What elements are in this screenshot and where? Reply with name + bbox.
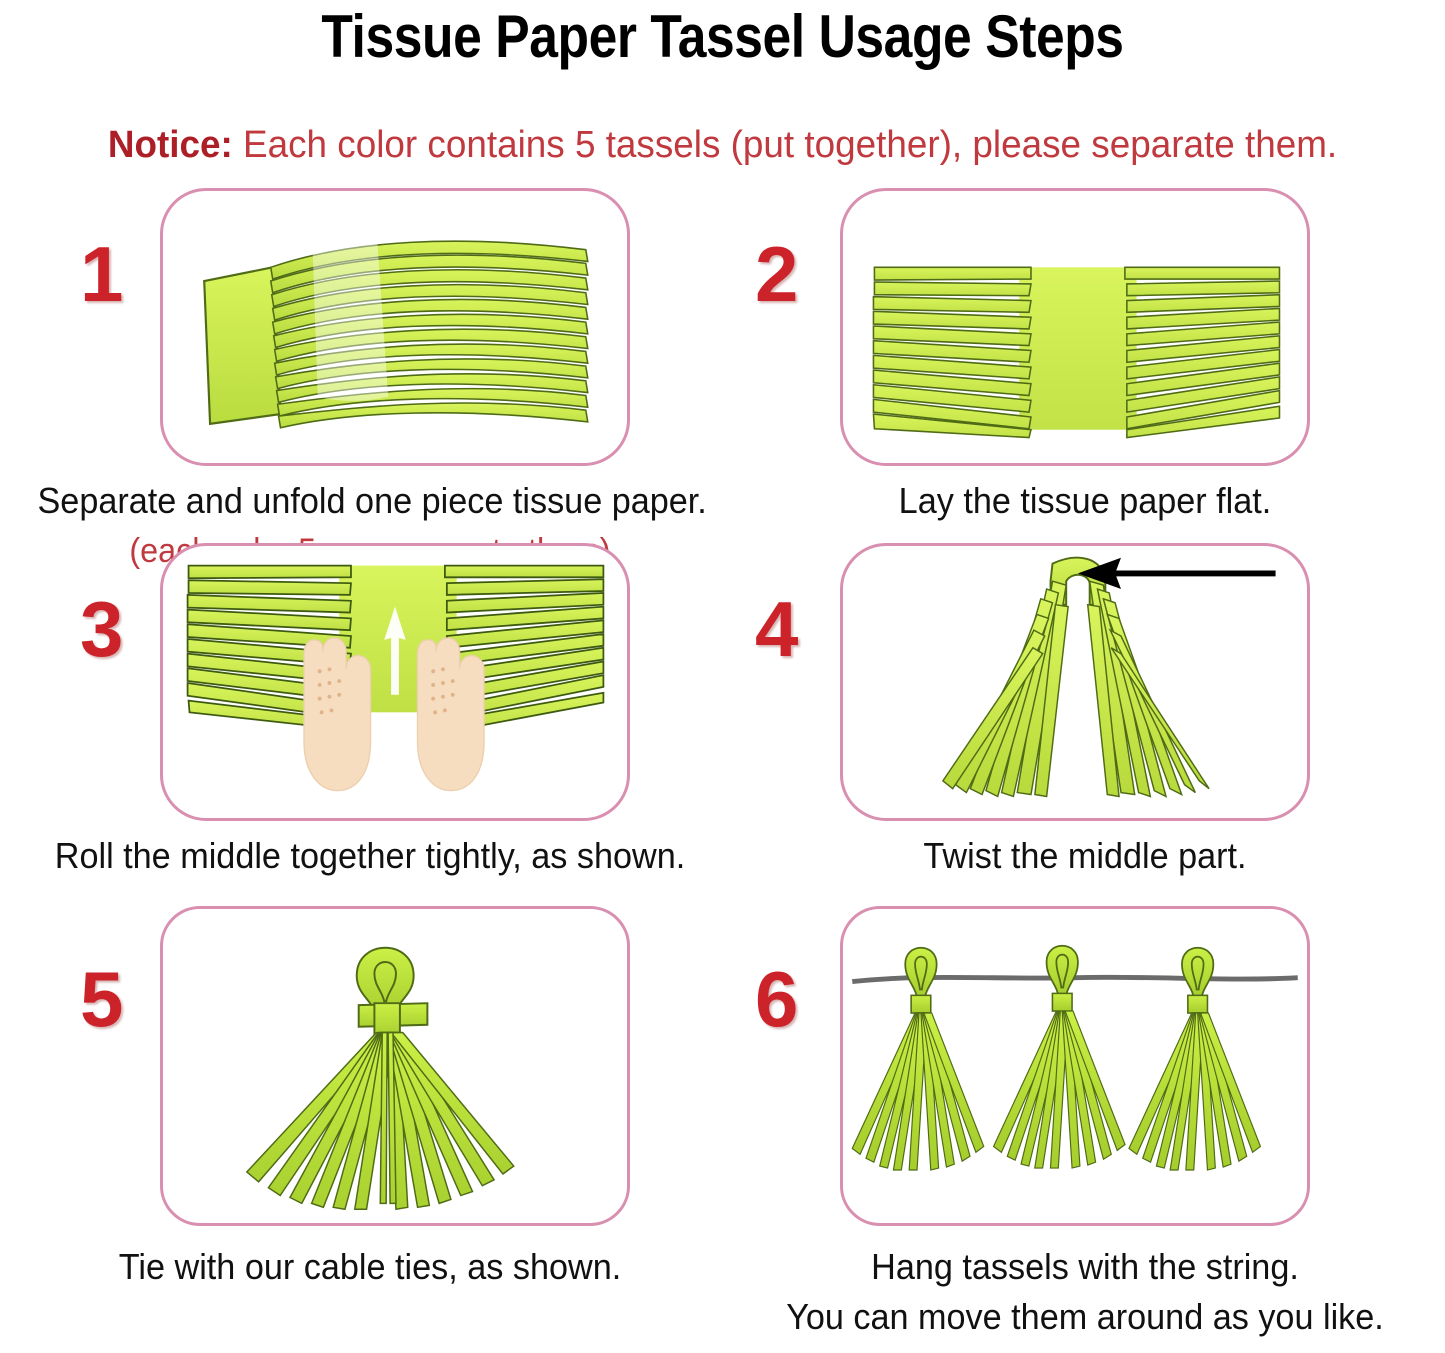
hands-rolling-middle-icon bbox=[163, 546, 627, 818]
step-6-panel bbox=[840, 906, 1310, 1226]
right-hand bbox=[418, 638, 485, 791]
step-1-caption: Separate and unfold one piece tissue pap… bbox=[38, 480, 703, 522]
step-3-caption: Roll the middle together tightly, as sho… bbox=[38, 835, 703, 877]
step-2-panel bbox=[840, 188, 1310, 466]
notice-text: Each color contains 5 tassels (put toget… bbox=[233, 124, 1337, 166]
three-tassels-on-string-icon bbox=[843, 909, 1307, 1223]
step-number-4: 4 bbox=[755, 590, 798, 668]
step-number-2: 2 bbox=[755, 235, 798, 313]
step-5-caption: Tie with our cable ties, as shown. bbox=[38, 1246, 703, 1288]
step-4-panel bbox=[840, 543, 1310, 821]
step-2-caption: Lay the tissue paper flat. bbox=[753, 480, 1418, 522]
step-number-1: 1 bbox=[80, 235, 123, 313]
step-4-caption: Twist the middle part. bbox=[753, 835, 1418, 877]
notice-banner: Notice: Each color contains 5 tassels (p… bbox=[22, 124, 1424, 167]
folded-fringed-sheet-perspective-icon bbox=[163, 191, 627, 463]
step-6-caption: Hang tassels with the string. bbox=[753, 1246, 1418, 1288]
step-5-panel bbox=[160, 906, 630, 1226]
step-number-3: 3 bbox=[80, 590, 123, 668]
left-hand bbox=[304, 638, 371, 791]
step-1-panel bbox=[160, 188, 630, 466]
step-3-panel bbox=[160, 543, 630, 821]
folded-loop-strands-with-arrow-icon bbox=[843, 546, 1307, 818]
notice-label: Notice: bbox=[108, 124, 233, 166]
step-6-caption-2: You can move them around as you like. bbox=[753, 1296, 1418, 1338]
left-arrow-icon bbox=[1078, 558, 1276, 589]
step-number-5: 5 bbox=[80, 960, 123, 1038]
page-title: Tissue Paper Tassel Usage Steps bbox=[101, 2, 1344, 71]
step-number-6: 6 bbox=[755, 960, 798, 1038]
tassel-with-cable-tie-icon bbox=[163, 909, 627, 1223]
flat-fringed-sheet-icon bbox=[843, 191, 1307, 463]
